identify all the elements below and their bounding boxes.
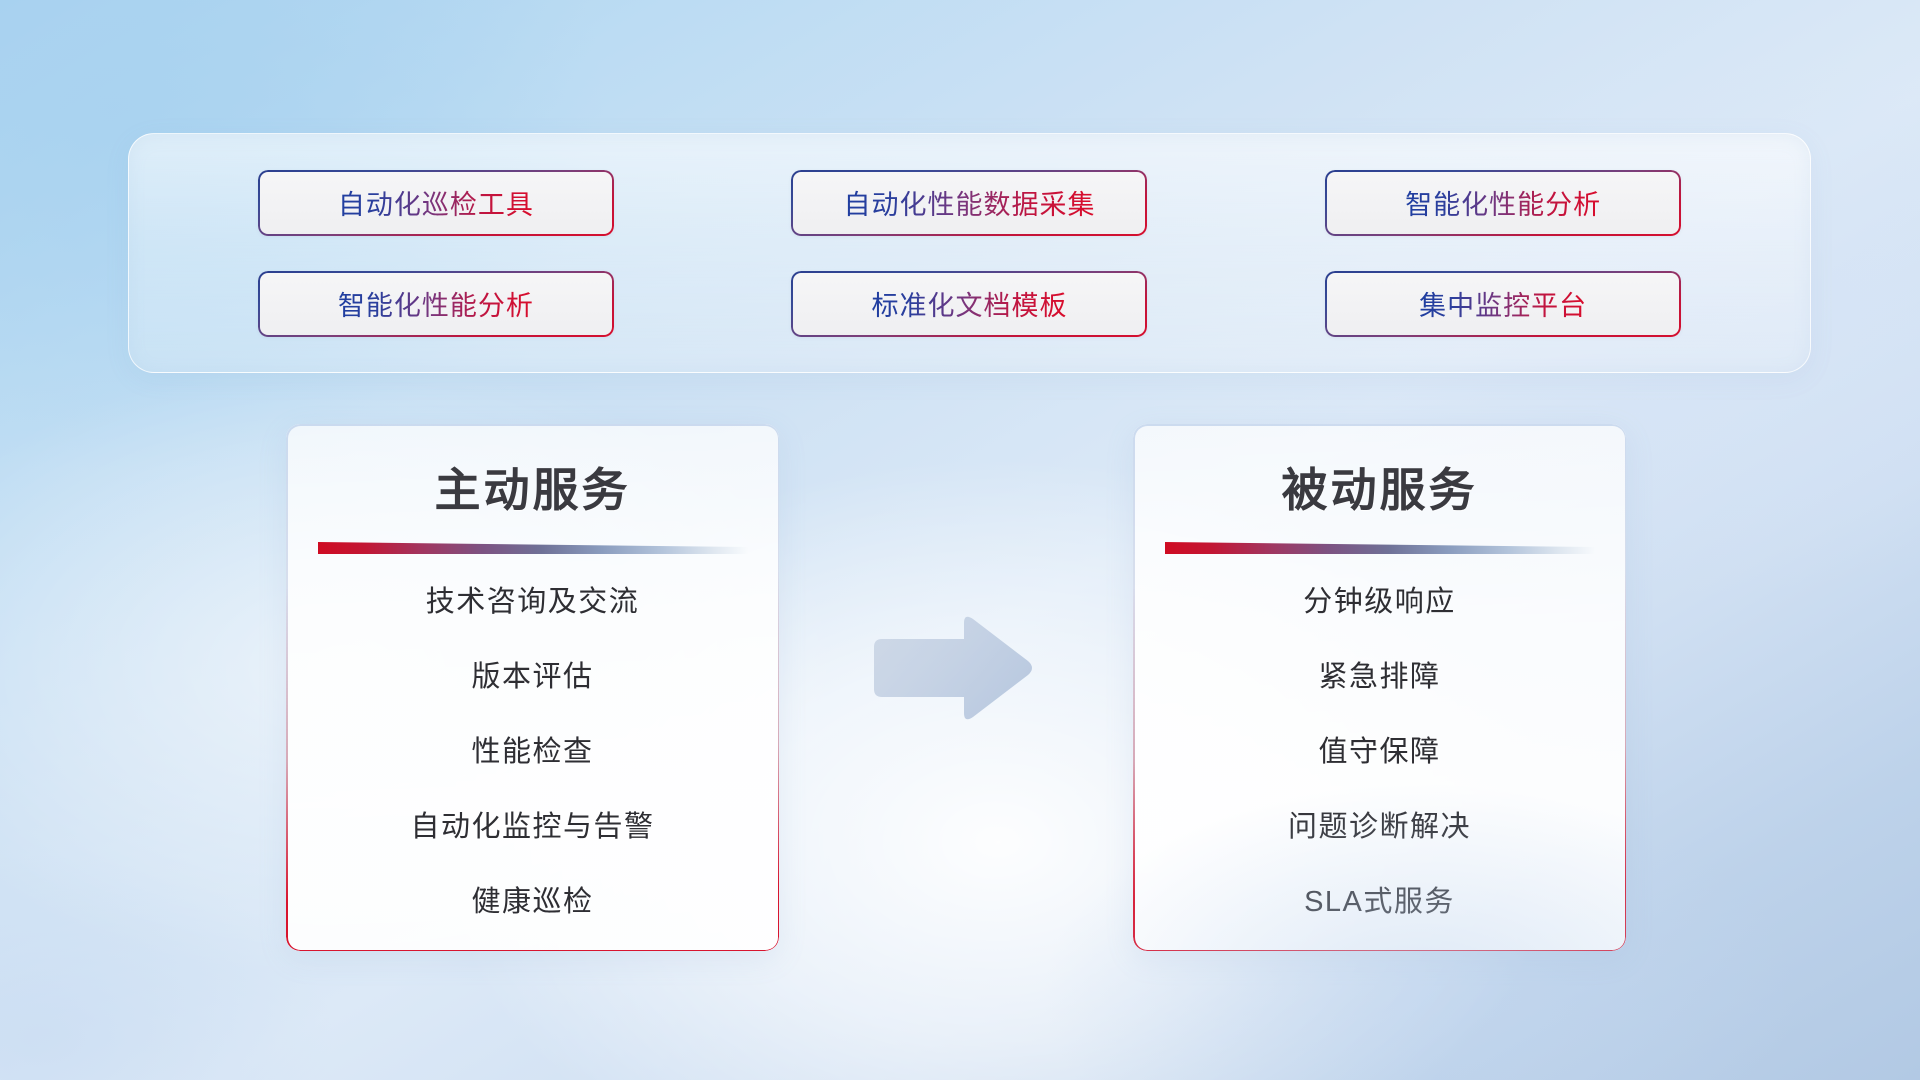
- list-item: 分钟级响应: [1133, 588, 1626, 617]
- capability-chip-automated-inspection-tool[interactable]: 自动化巡检工具: [258, 170, 614, 236]
- capability-chip-label: 标准化文档模板: [871, 284, 1067, 323]
- capability-chip-intelligent-performance-analysis[interactable]: 智能化性能分析: [1325, 170, 1681, 236]
- capability-chip-label: 智能化性能分析: [338, 284, 534, 323]
- divider-gradient-bar: [318, 542, 748, 554]
- divider-gradient-bar: [1165, 542, 1595, 554]
- capability-chip-label: 智能化性能分析: [1405, 183, 1601, 222]
- list-item: 值守保障: [1133, 738, 1626, 767]
- service-card-reactive[interactable]: 被动服务 分钟级响应 紧急排障 值守保障 问题诊断解决 SLA式服务: [1133, 424, 1626, 951]
- capability-chip-intelligent-performance-analysis-2[interactable]: 智能化性能分析: [258, 271, 614, 337]
- list-item: 性能检查: [286, 738, 779, 767]
- list-item: 问题诊断解决: [1133, 813, 1626, 842]
- service-card-proactive[interactable]: 主动服务 技术咨询及交流 版本评估 性能检查 自动化监控与告警 健康巡检: [286, 424, 779, 951]
- card-title: 被动服务: [1133, 454, 1626, 520]
- capability-chip-label: 自动化巡检工具: [338, 183, 534, 222]
- capability-chip-automated-performance-data-collection[interactable]: 自动化性能数据采集: [791, 170, 1147, 236]
- capability-chip-label: 集中监控平台: [1419, 284, 1587, 323]
- card-title: 主动服务: [286, 454, 779, 520]
- service-list-proactive: 技术咨询及交流 版本评估 性能检查 自动化监控与告警 健康巡检: [286, 588, 779, 917]
- capability-chip-centralized-monitoring-platform[interactable]: 集中监控平台: [1325, 271, 1681, 337]
- capability-panel: 自动化巡检工具 自动化性能数据采集 智能化性能分析 智能化性能分析 标准化文档模…: [128, 133, 1811, 373]
- card-divider: [318, 542, 748, 554]
- capability-chip-standard-document-template[interactable]: 标准化文档模板: [791, 271, 1147, 337]
- service-list-reactive: 分钟级响应 紧急排障 值守保障 问题诊断解决 SLA式服务: [1133, 588, 1626, 917]
- arrow-right-icon: [868, 613, 1034, 723]
- list-item: 技术咨询及交流: [286, 588, 779, 617]
- slide-canvas: 自动化巡检工具 自动化性能数据采集 智能化性能分析 智能化性能分析 标准化文档模…: [0, 0, 1920, 1080]
- list-item: SLA式服务: [1133, 888, 1626, 917]
- list-item: 版本评估: [286, 663, 779, 692]
- list-item: 自动化监控与告警: [286, 813, 779, 842]
- list-item: 健康巡检: [286, 888, 779, 917]
- card-divider: [1165, 542, 1595, 554]
- capability-chip-label: 自动化性能数据采集: [843, 183, 1095, 222]
- list-item: 紧急排障: [1133, 663, 1626, 692]
